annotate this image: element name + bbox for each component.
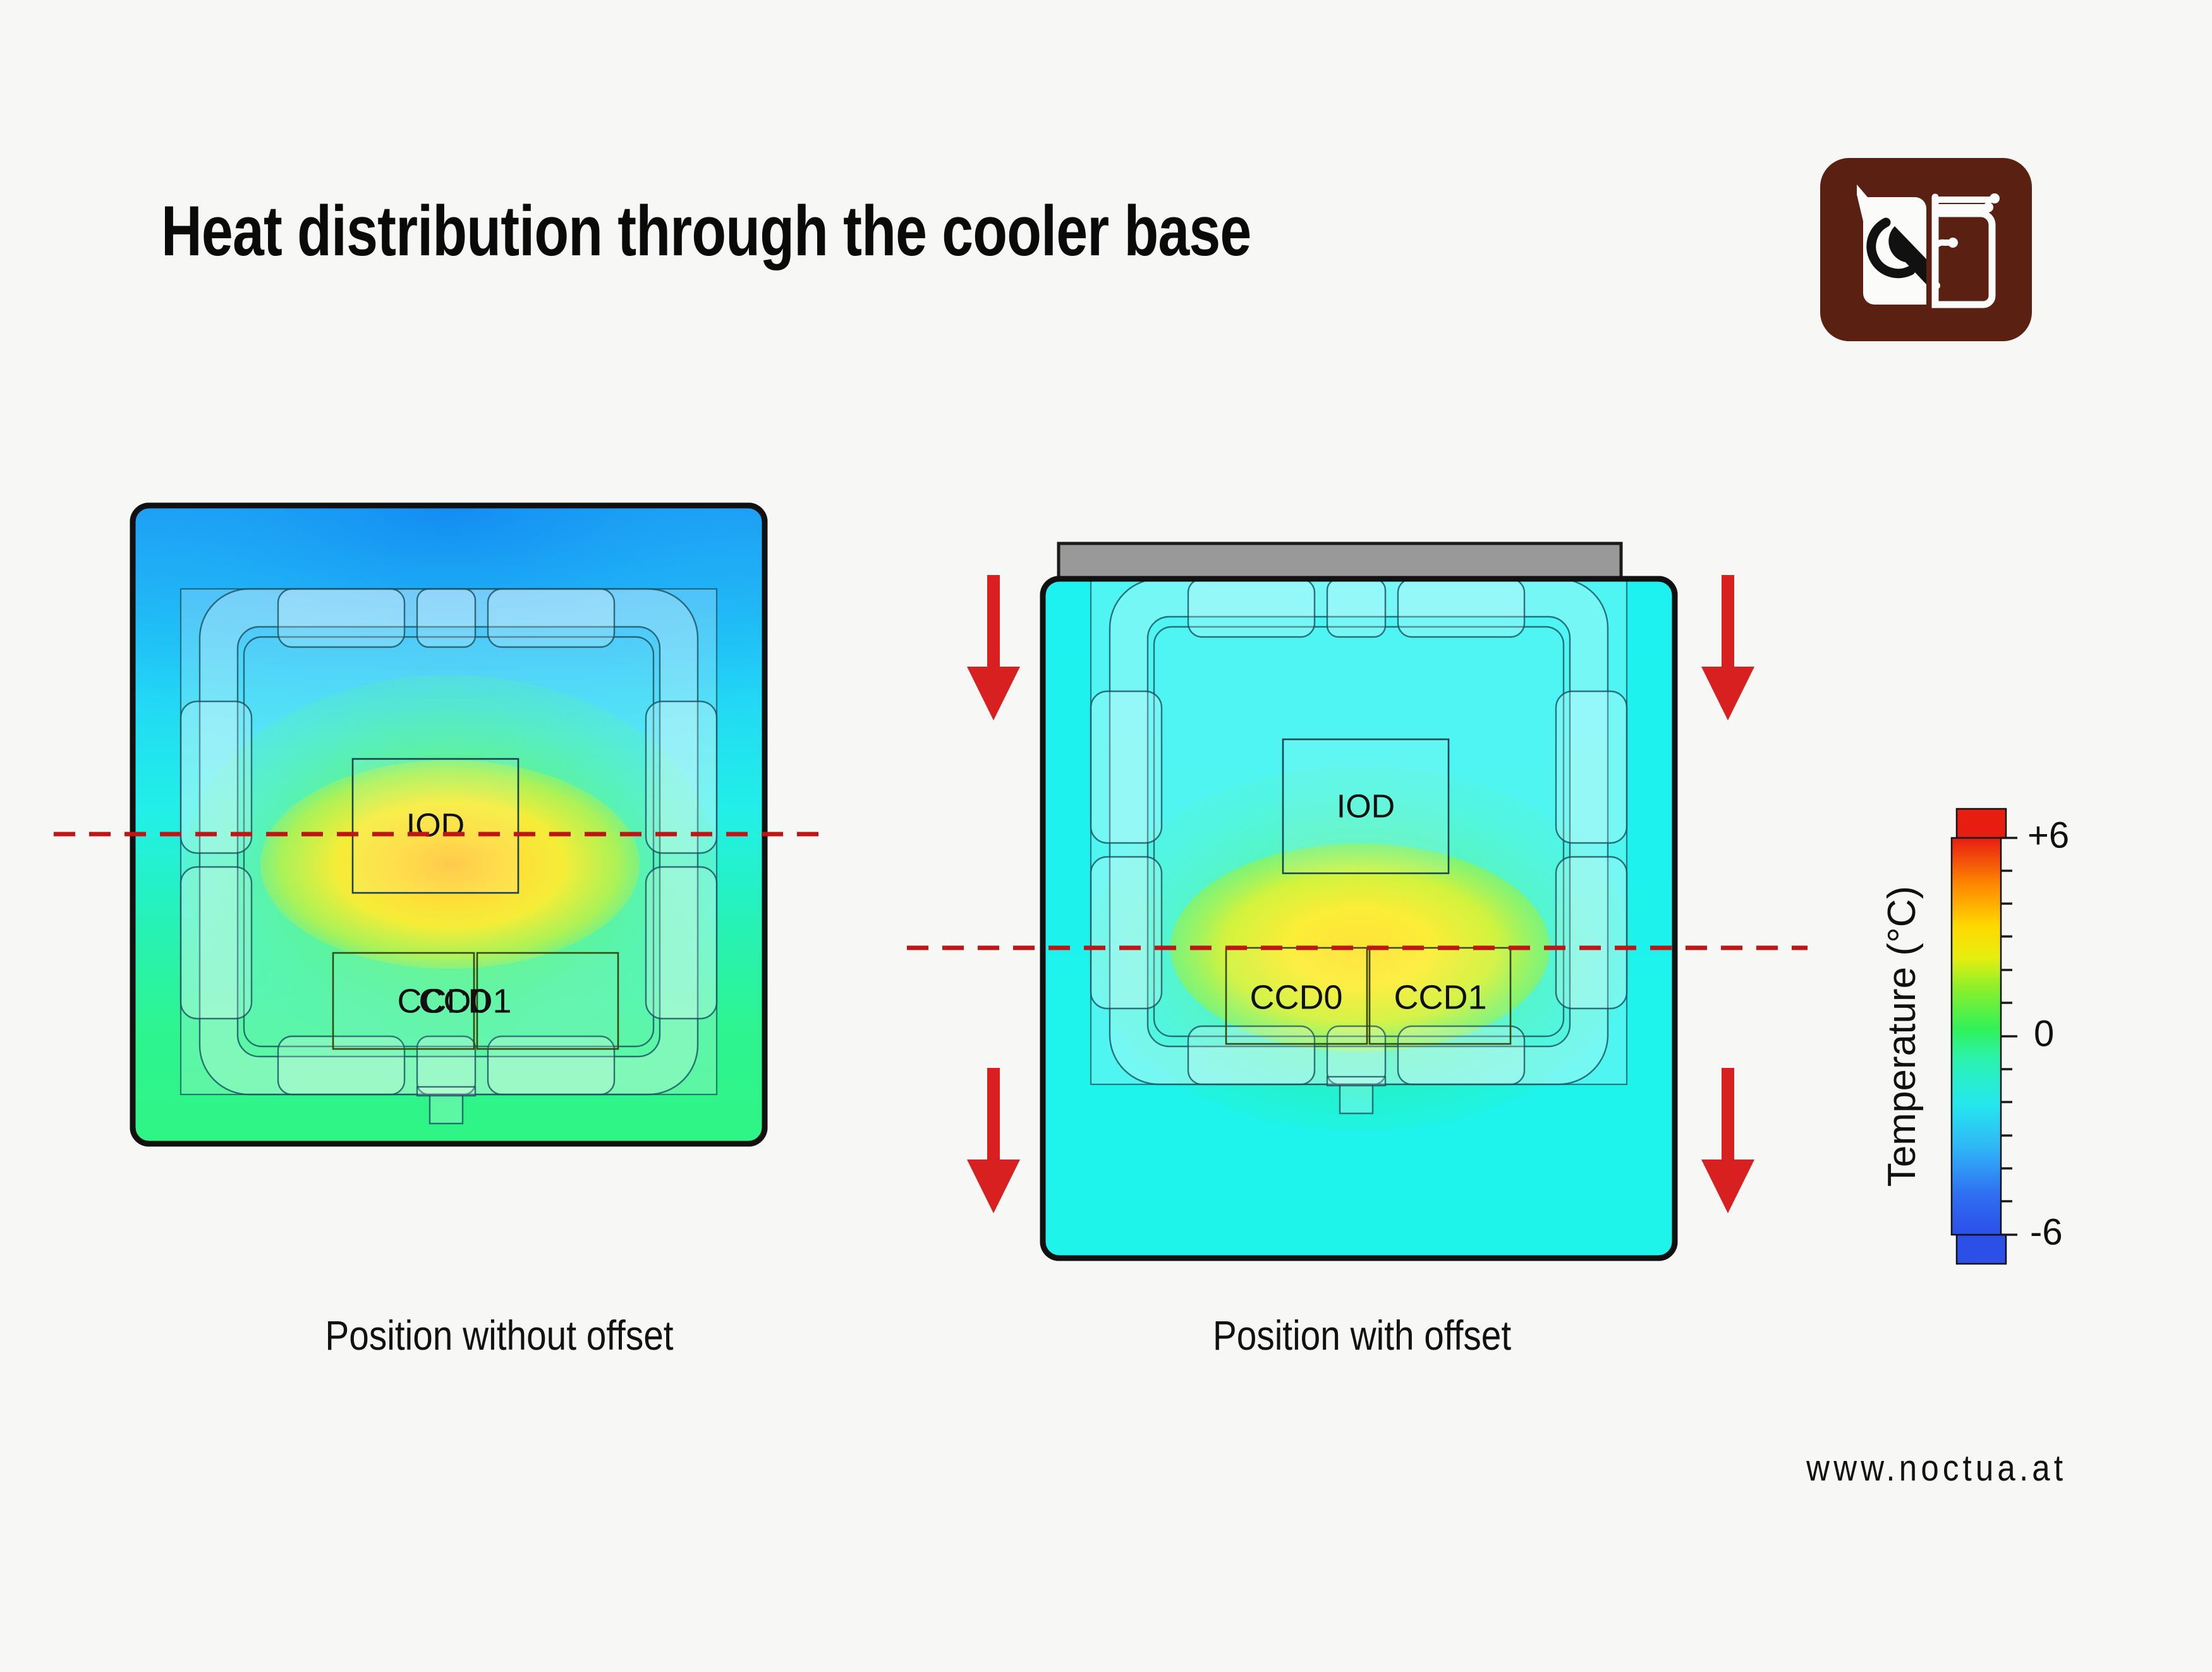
arrow-down-top-left: [967, 575, 1020, 720]
caption-without-offset: Position without offset: [173, 1311, 825, 1359]
die-ccd1-label-right: CCD1: [1394, 978, 1486, 1016]
owl-icon: [1820, 158, 2032, 341]
thermal-svg-right: IOD CCD0 CCD1: [967, 543, 1757, 1314]
page-title: Heat distribution through the cooler bas…: [161, 196, 1251, 267]
die-iod-right: IOD: [1283, 739, 1449, 873]
colorbar-axis-title: Temperature (°C): [1880, 886, 1924, 1187]
cooler-base-left: IOD CCD0 CCD1: [133, 506, 765, 1144]
thermal-map-with-offset: IOD CCD0 CCD1: [967, 543, 1757, 1314]
colorbar-ticks: [2001, 838, 2017, 1235]
die-iod-label-right: IOD: [1337, 789, 1395, 825]
thermal-svg-left: IOD CCD0 CCD1: [120, 493, 878, 1251]
arrow-down-bottom-right: [1701, 1068, 1754, 1213]
website-url: www.noctua.at: [1806, 1447, 2067, 1489]
die-ccd1-label-left: CCD1: [418, 982, 511, 1020]
arrow-down-bottom-left: [967, 1068, 1020, 1213]
colorbar-label-max: +6: [2027, 815, 2069, 856]
die-iod-label-left: IOD: [406, 808, 465, 844]
die-iod-left: IOD: [353, 759, 518, 893]
colorbar-cap-max: [1957, 809, 2006, 838]
caption-with-offset: Position with offset: [1023, 1311, 1702, 1359]
temperature-legend: +6 0 -6 Temperature (°C): [1883, 809, 2174, 1264]
poster-root: Heat distribution through the cooler bas…: [0, 0, 2212, 1672]
colorbar-ramp: [1952, 838, 2001, 1235]
arrow-down-top-right: [1701, 575, 1754, 720]
cooler-base-right: IOD CCD0 CCD1: [1043, 579, 1675, 1258]
colorbar-label-min: -6: [2030, 1211, 2063, 1252]
colorbar-label-mid: 0: [2034, 1013, 2054, 1054]
die-ccd0-label-right: CCD0: [1249, 978, 1342, 1016]
colorbar-svg: +6 0 -6 Temperature (°C): [1883, 809, 2174, 1264]
colorbar-cap-min: [1957, 1235, 2006, 1264]
thermal-map-without-offset: IOD CCD0 CCD1: [120, 493, 878, 1251]
noctua-logo: [1820, 158, 2032, 341]
